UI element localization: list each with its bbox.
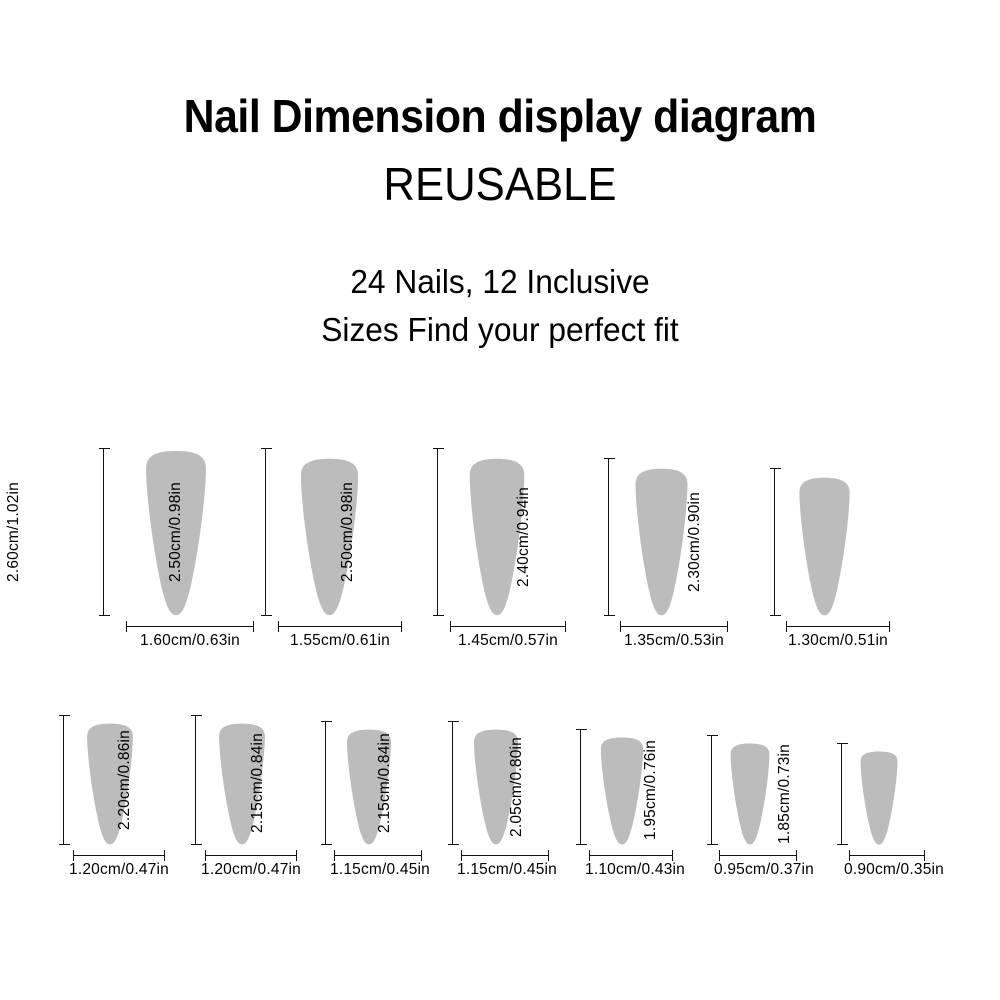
nail-size-cell: 2.30cm/0.90in1.30cm/0.51in	[0, 440, 1000, 660]
tagline-line-1: 24 Nails, 12 Inclusive	[20, 258, 980, 306]
width-dimension-label: 1.30cm/0.51in	[764, 633, 912, 649]
tagline-line-2: Sizes Find your perfect fit	[20, 306, 980, 354]
nail-shape	[858, 751, 900, 845]
nail-size-row-1: 2.60cm/1.02in1.60cm/0.63in2.50cm/0.98in1…	[0, 440, 1000, 660]
nail-size-row-2: 2.20cm/0.86in1.20cm/0.47in2.20cm/0.86in1…	[0, 705, 1000, 895]
height-dimension-line	[774, 468, 775, 616]
width-dimension-line	[849, 855, 925, 856]
width-dimension-line	[786, 626, 890, 627]
width-dimension-label: 0.90cm/0.35in	[830, 862, 958, 878]
nail-shape	[796, 477, 853, 616]
height-dimension-label: 2.30cm/0.90in	[621, 468, 769, 616]
tagline: 24 Nails, 12 Inclusive Sizes Find your p…	[20, 258, 980, 354]
page-title: Nail Dimension display diagram	[35, 90, 965, 142]
nail-size-cell: 1.85cm/0.73in0.90cm/0.35in	[0, 705, 1000, 895]
page-subtitle-reusable: REUSABLE	[25, 158, 975, 210]
height-dimension-line	[841, 743, 842, 845]
height-dimension-label: 1.85cm/0.73in	[734, 743, 836, 845]
